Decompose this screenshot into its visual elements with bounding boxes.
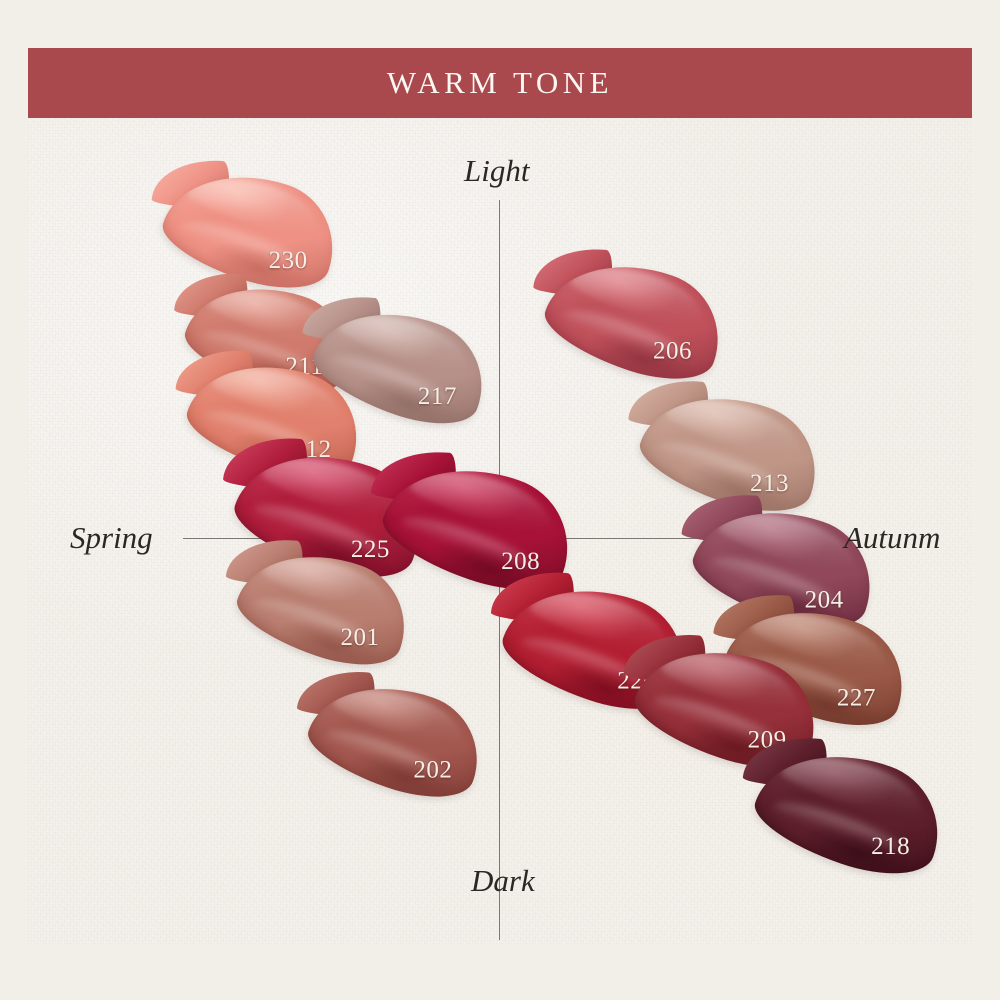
axis-label-dark: Dark bbox=[471, 863, 535, 899]
shade-swatch-206[interactable]: 206 bbox=[536, 240, 736, 396]
shade-chart-page: WARM TONE Light Dark Spring Autunm 23021… bbox=[0, 0, 1000, 1000]
shade-swatch-202[interactable]: 202 bbox=[299, 663, 494, 814]
header-banner: WARM TONE bbox=[28, 48, 972, 118]
shade-swatch-218[interactable]: 218 bbox=[745, 729, 956, 892]
axis-label-autumn: Autunm bbox=[844, 520, 940, 556]
page-title: WARM TONE bbox=[387, 65, 613, 101]
chart-canvas: Light Dark Spring Autunm 230211217212225… bbox=[28, 118, 972, 944]
axis-label-light: Light bbox=[464, 153, 529, 189]
axis-label-spring: Spring bbox=[70, 520, 153, 556]
